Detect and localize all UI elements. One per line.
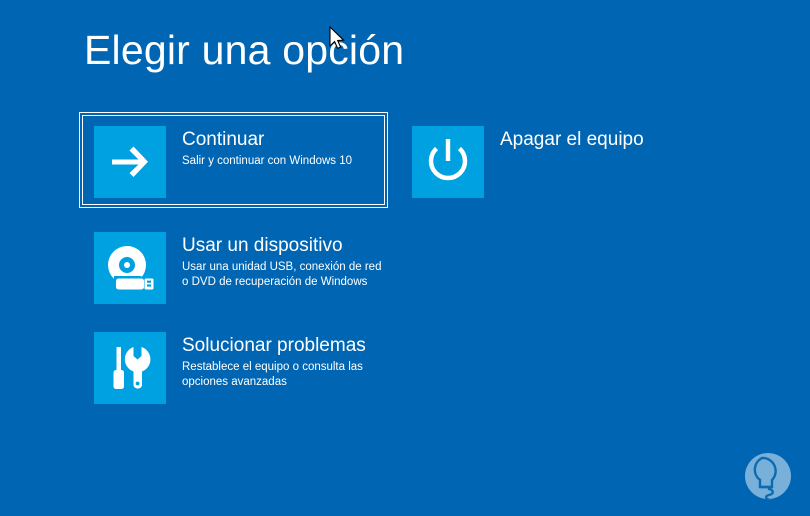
option-shutdown-text: Apagar el equipo [484, 126, 644, 151]
option-troubleshoot-subtitle-line-1: Restablece el equipo o consulta las [182, 360, 366, 375]
disc-usb-icon [94, 232, 166, 304]
option-shutdown[interactable]: Apagar el equipo [412, 126, 644, 198]
option-troubleshoot-text: Solucionar problemas Restablece el equip… [166, 332, 366, 390]
option-troubleshoot-subtitle: Restablece el equipo o consulta las opci… [182, 360, 366, 390]
option-troubleshoot[interactable]: Solucionar problemas Restablece el equip… [94, 332, 366, 404]
option-shutdown-title: Apagar el equipo [500, 128, 644, 151]
option-continue[interactable]: Continuar Salir y continuar con Windows … [94, 126, 352, 198]
page-title: Elegir una opción [84, 28, 404, 73]
option-use-device-subtitle-line-2: o DVD de recuperación de Windows [182, 275, 381, 290]
option-continue-subtitle: Salir y continuar con Windows 10 [182, 154, 352, 169]
screwdriver-wrench-icon [94, 332, 166, 404]
option-use-device-text: Usar un dispositivo Usar una unidad USB,… [166, 232, 381, 290]
option-use-device-title: Usar un dispositivo [182, 234, 381, 257]
option-continue-subtitle-line-1: Salir y continuar con Windows 10 [182, 154, 352, 169]
option-continue-title: Continuar [182, 128, 352, 151]
option-continue-text: Continuar Salir y continuar con Windows … [166, 126, 352, 169]
arrow-right-icon [94, 126, 166, 198]
option-use-device[interactable]: Usar un dispositivo Usar una unidad USB,… [94, 232, 381, 304]
option-use-device-subtitle-line-1: Usar una unidad USB, conexión de red [182, 260, 381, 275]
lightbulb-logo [736, 446, 796, 506]
power-icon [412, 126, 484, 198]
option-troubleshoot-title: Solucionar problemas [182, 334, 366, 357]
option-use-device-subtitle: Usar una unidad USB, conexión de red o D… [182, 260, 381, 290]
option-troubleshoot-subtitle-line-2: opciones avanzadas [182, 375, 366, 390]
